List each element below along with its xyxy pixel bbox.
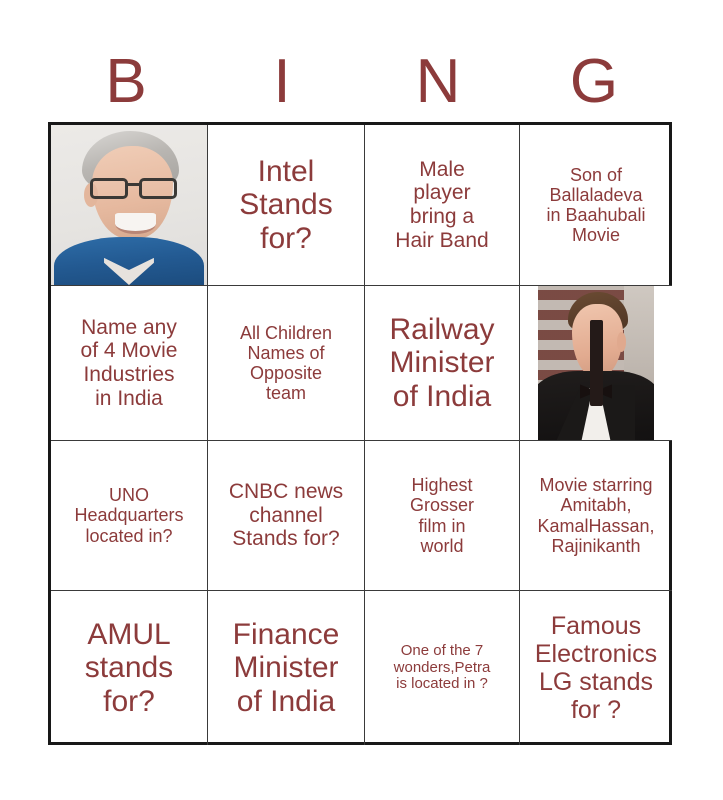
bingo-cell-r4c1[interactable]: AMUL stands for? — [51, 591, 208, 745]
bingo-cell-r3c1[interactable]: UNO Headquarters located in? — [51, 441, 208, 591]
bingo-cell-text: Famous Electronics LG stands for ? — [522, 612, 670, 724]
bingo-cell-text: Male player bring a Hair Band — [367, 158, 517, 252]
bingo-cell-text: Highest Grosser film in world — [367, 475, 517, 556]
header-letter-n: N — [360, 44, 516, 120]
bingo-grid: Intel Stands for? Male player bring a Ha… — [48, 122, 672, 745]
bowtie-knot-shape — [590, 320, 603, 406]
header-letter-i: I — [204, 44, 360, 120]
bingo-cell-text: All Children Names of Opposite team — [210, 323, 362, 404]
bingo-cell-r3c4[interactable]: Movie starring Amitabh, KamalHassan, Raj… — [520, 441, 672, 591]
bingo-header: B I N G — [48, 44, 672, 120]
ear-shape — [617, 332, 626, 352]
header-letter-g: G — [516, 44, 672, 120]
bingo-cell-text: Son of Ballaladeva in Baahubali Movie — [522, 165, 670, 246]
lens-right-shape — [139, 178, 177, 199]
bingo-cell-r2c1[interactable]: Name any of 4 Movie Industries in India — [51, 286, 208, 441]
bingo-cell-text: UNO Headquarters located in? — [53, 485, 205, 545]
bingo-cell-r2c4[interactable] — [520, 286, 672, 441]
bingo-cell-text: AMUL stands for? — [53, 618, 205, 719]
bingo-cell-text: Name any of 4 Movie Industries in India — [53, 316, 205, 410]
bingo-cell-text: CNBC news channel Stands for? — [210, 480, 362, 551]
glasses-bridge-shape — [127, 183, 141, 186]
lens-left-shape — [90, 178, 128, 199]
glasses-icon — [90, 178, 177, 199]
bingo-cell-text: Finance Minister of India — [210, 618, 362, 719]
bingo-cell-text: One of the 7 wonders,Petra is located in… — [367, 643, 517, 693]
bingo-cell-r1c2[interactable]: Intel Stands for? — [208, 125, 365, 286]
bingo-cell-r2c3[interactable]: Railway Minister of India — [365, 286, 520, 441]
bingo-cell-r3c2[interactable]: CNBC news channel Stands for? — [208, 441, 365, 591]
bingo-cell-r4c3[interactable]: One of the 7 wonders,Petra is located in… — [365, 591, 520, 745]
bingo-cell-r3c3[interactable]: Highest Grosser film in world — [365, 441, 520, 591]
bingo-cell-r2c2[interactable]: All Children Names of Opposite team — [208, 286, 365, 441]
bingo-cell-r4c2[interactable]: Finance Minister of India — [208, 591, 365, 745]
bingo-cell-r1c4[interactable]: Son of Ballaladeva in Baahubali Movie — [520, 125, 672, 286]
bingo-cell-text: Movie starring Amitabh, KamalHassan, Raj… — [522, 475, 670, 556]
bingo-cell-text: Intel Stands for? — [210, 155, 362, 256]
header-letter-b: B — [48, 44, 204, 120]
photo-man-tuxedo-bowtie-image — [520, 286, 672, 440]
photo-smiling-man-glasses-blue-shirt-image — [51, 125, 207, 285]
bingo-card: B I N G Intel Stands for? — [0, 0, 723, 800]
bingo-cell-text: Railway Minister of India — [367, 313, 517, 414]
bingo-cell-r1c1[interactable] — [51, 125, 208, 286]
photo-inner — [538, 286, 654, 440]
smile-shape — [115, 213, 156, 234]
bingo-cell-r4c4[interactable]: Famous Electronics LG stands for ? — [520, 591, 672, 745]
bingo-cell-r1c3[interactable]: Male player bring a Hair Band — [365, 125, 520, 286]
